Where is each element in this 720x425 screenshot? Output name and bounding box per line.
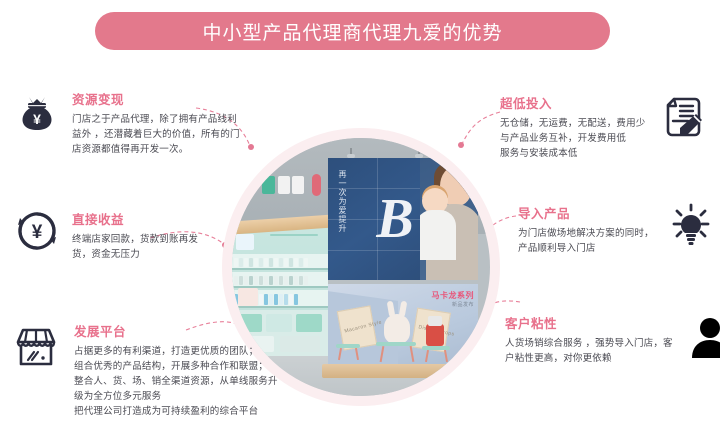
feature-direct-income: ¥ 直接收益 终端店家回款，货款到账再发 货，资金无压力 [14,208,198,262]
money-bag-icon: ¥ [14,88,60,134]
feature-development-platform: 发展平台 占据更多的有利渠道，打造更优质的团队； 组合优秀的产品结构，开展多种合… [10,320,278,419]
photo-shop-sign [262,174,334,198]
poster-canvas: 中小型产品代理商代理九爱的优势 [0,0,720,425]
photo-wall-label [270,234,318,246]
photo-wall-card [238,288,258,306]
feature-product-import: 导入产品 为门店做场地解决方案的同时， 产品顺利导入门店 [518,202,716,256]
feature-title: 直接收益 [72,209,198,228]
feature-description: 人货场销综合服务 ，强势导入门店，客 户粘性更高，对你更依赖 [505,336,673,366]
page-title: 中小型产品代理商代理九爱的优势 [202,18,502,45]
feature-title: 发展平台 [74,321,278,340]
yen-refresh-icon: ¥ [14,208,60,254]
page-banner: 中小型产品代理商代理九爱的优势 [95,12,610,50]
person-icon [685,312,720,362]
display-poster-subtitle: 新品发布 [452,301,474,308]
photo-shelf-row [232,254,328,270]
poster-vertical-text: 再一次为爱提升 [334,170,348,233]
storefront-icon [10,320,62,372]
photo-robot-toy [426,324,444,346]
photo-wall-card [236,234,254,250]
photo-wood-platform [322,364,482,378]
feature-description: 无仓储，无运费，无配送，费用少 与产品业务互补，开发费用低 服务与安装成本低 [500,116,646,161]
feature-ultra-low-investment: 超低投入 无仓储，无运费，无配送，费用少 与产品业务互补，开发费用低 服务与安装… [500,92,708,161]
feature-resource-monetization: ¥ 资源变现 门店之于产品代理，除了拥有产品线利 益外 ，还潜藏着巨大的价值，所… [14,88,240,157]
photo-display-poster: Macaron Style Display props 马卡龙系列 新品发布 [328,284,478,370]
poster-brush-letter: B [366,176,424,262]
feature-title: 导入产品 [518,203,654,222]
lightbulb-icon [666,202,716,252]
svg-text:¥: ¥ [33,111,41,127]
feature-description: 为门店做场地解决方案的同时， 产品顺利导入门店 [518,226,654,256]
document-pencil-icon [658,92,708,142]
feature-title: 资源变现 [72,89,240,108]
feature-title: 客户粘性 [505,313,673,332]
photo-mother-baby [420,158,478,280]
photo-bunny-toy [384,314,410,344]
display-poster-title: 马卡龙系列 [432,290,475,301]
feature-title: 超低投入 [500,93,646,112]
feature-description: 占据更多的有利渠道，打造更优质的团队； 组合优秀的产品结构，开展多种合作和联盟；… [74,344,278,419]
photo-shelf-row [232,272,328,288]
feature-description: 终端店家回款，货款到账再发 货，资金无压力 [72,232,198,262]
svg-text:¥: ¥ [32,222,43,243]
feature-description: 门店之于产品代理，除了拥有产品线利 益外 ，还潜藏着巨大的价值，所有的门 店资源… [72,112,240,157]
feature-customer-stickiness: 客户粘性 人货场销综合服务 ，强势导入门店，客 户粘性更高，对你更依赖 [505,312,720,366]
